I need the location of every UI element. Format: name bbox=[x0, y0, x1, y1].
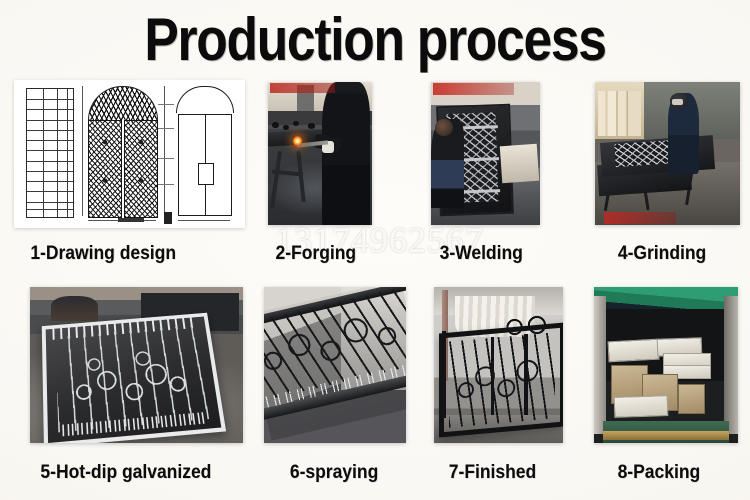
cad-frame-section bbox=[176, 86, 232, 216]
step-image-drawing-design[interactable] bbox=[14, 80, 245, 228]
step-image-packing[interactable] bbox=[594, 287, 738, 443]
step-caption-3: 3-Welding bbox=[440, 243, 523, 265]
step-image-hot-dip-galvanized[interactable] bbox=[30, 287, 243, 443]
photo-text-banner bbox=[270, 83, 334, 93]
step-image-welding[interactable] bbox=[431, 82, 540, 225]
cad-door-elevation bbox=[88, 86, 156, 216]
photo-text-banner bbox=[433, 83, 514, 94]
step-caption-1: 1-Drawing design bbox=[30, 243, 176, 265]
step-caption-2: 2-Forging bbox=[276, 243, 357, 265]
step-caption-5: 5-Hot-dip galvanized bbox=[40, 462, 211, 484]
page-title: Production process bbox=[53, 6, 698, 74]
cad-spec-table bbox=[26, 88, 74, 218]
step-caption-8: 8-Packing bbox=[618, 462, 701, 484]
production-process-poster: Production process 1-Drawing design bbox=[0, 0, 750, 500]
step-image-forging[interactable] bbox=[268, 82, 372, 225]
step-caption-6: 6-spraying bbox=[290, 462, 378, 484]
step-image-spraying[interactable] bbox=[264, 287, 406, 443]
step-image-grinding[interactable] bbox=[595, 82, 740, 225]
photo-text-banner bbox=[604, 212, 677, 223]
step-caption-4: 4-Grinding bbox=[618, 243, 706, 265]
step-image-finished[interactable] bbox=[434, 287, 563, 443]
step-caption-7: 7-Finished bbox=[449, 462, 536, 484]
